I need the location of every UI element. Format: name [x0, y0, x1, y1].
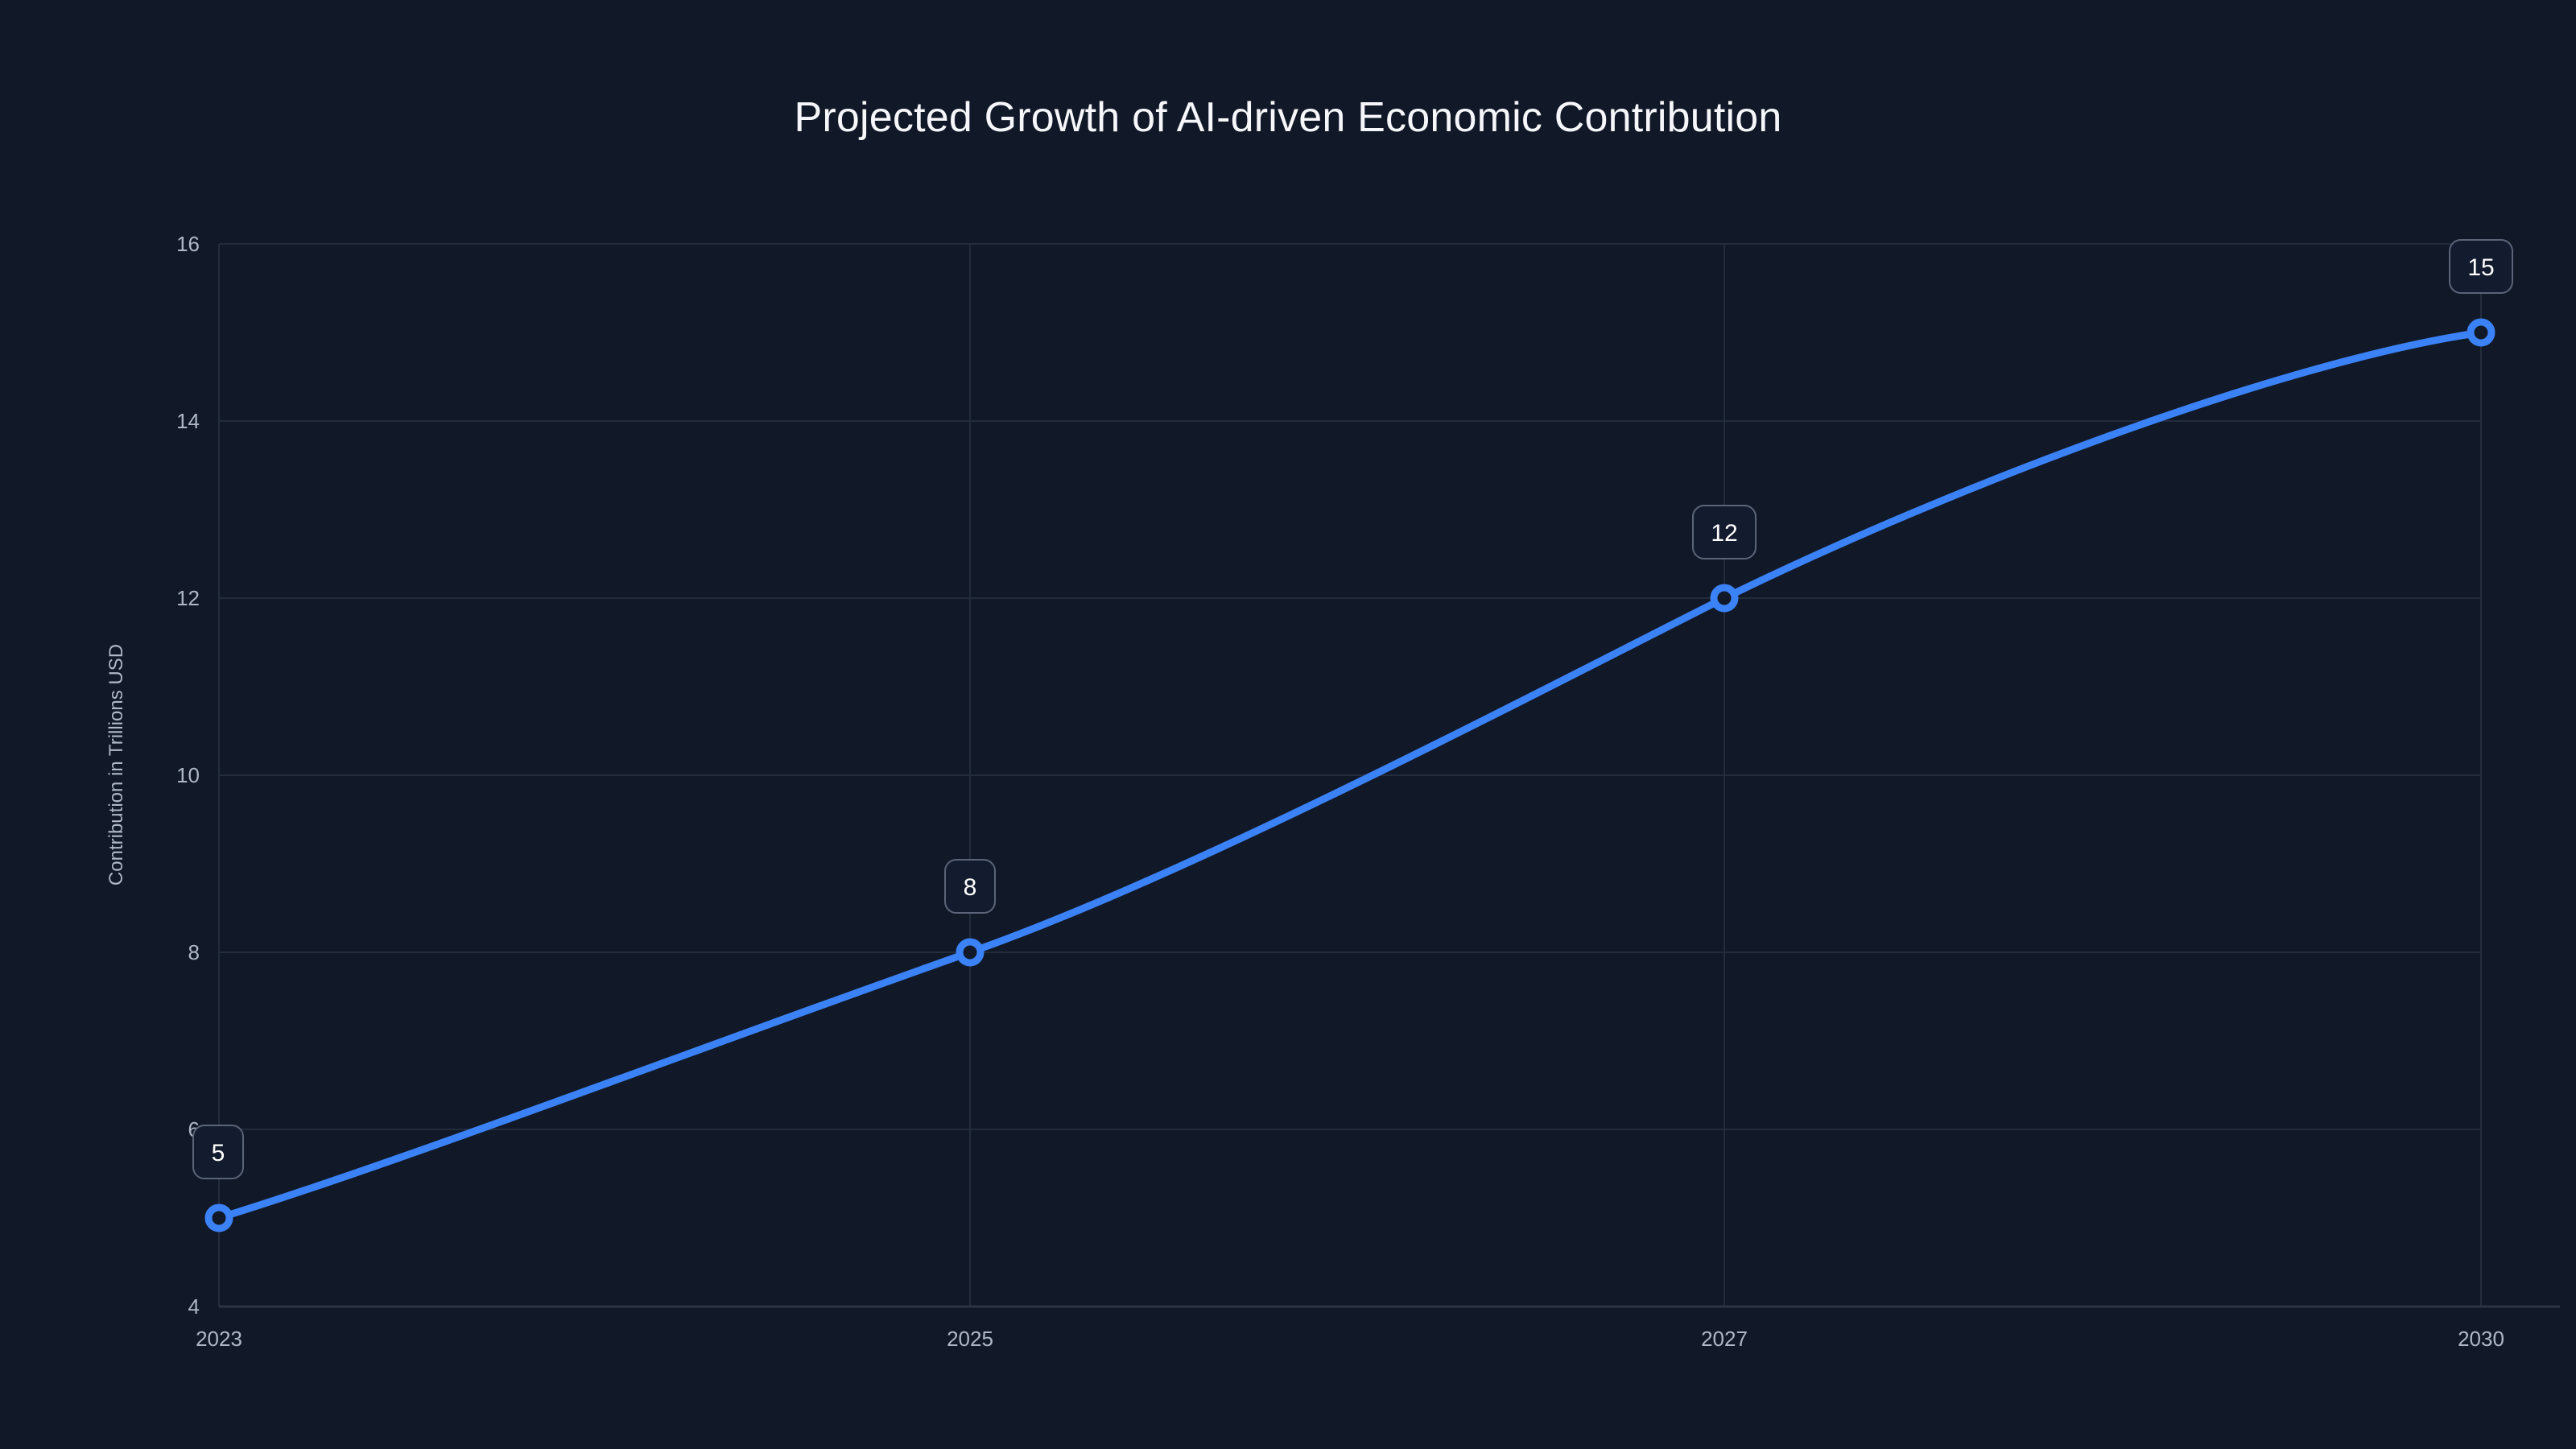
data-point-label-text: 12	[1711, 520, 1737, 547]
data-point-label-text: 5	[212, 1140, 225, 1166]
data-point-marker[interactable]	[2471, 322, 2491, 343]
data-point-label: 5	[193, 1125, 243, 1179]
x-tick-label: 2027	[1701, 1327, 1748, 1351]
y-axis-title: Contribution in Trillions USD	[105, 644, 127, 885]
chart-page: Projected Growth of AI-driven Economic C…	[0, 0, 2576, 1449]
x-tick-label: 2023	[196, 1327, 242, 1351]
line-chart-plot: 16 14 12 10 8 6 4 Contribution in Trilli…	[0, 0, 2576, 1449]
data-point-label: 15	[2450, 240, 2512, 293]
horizontal-gridlines	[219, 244, 2481, 1129]
x-tick-label: 2025	[947, 1327, 993, 1351]
data-point-marker[interactable]	[960, 942, 980, 963]
x-tick-label: 2030	[2458, 1327, 2504, 1351]
data-point-label-text: 8	[964, 874, 977, 901]
y-tick-label: 8	[188, 940, 200, 964]
data-point-label-text: 15	[2467, 254, 2494, 281]
x-axis-tick-labels: 2023 2025 2027 2030	[196, 1327, 2504, 1351]
data-point-value-labels: 5 8 12 15	[193, 240, 2512, 1179]
y-tick-label: 4	[188, 1294, 200, 1319]
y-tick-label: 10	[176, 763, 200, 787]
data-point-marker[interactable]	[1714, 588, 1735, 609]
data-point-label: 8	[945, 860, 995, 913]
data-point-label: 12	[1693, 506, 1756, 559]
y-tick-label: 14	[176, 409, 200, 433]
data-point-marker[interactable]	[208, 1207, 229, 1228]
y-tick-label: 12	[176, 586, 200, 610]
y-tick-label: 16	[176, 232, 200, 256]
